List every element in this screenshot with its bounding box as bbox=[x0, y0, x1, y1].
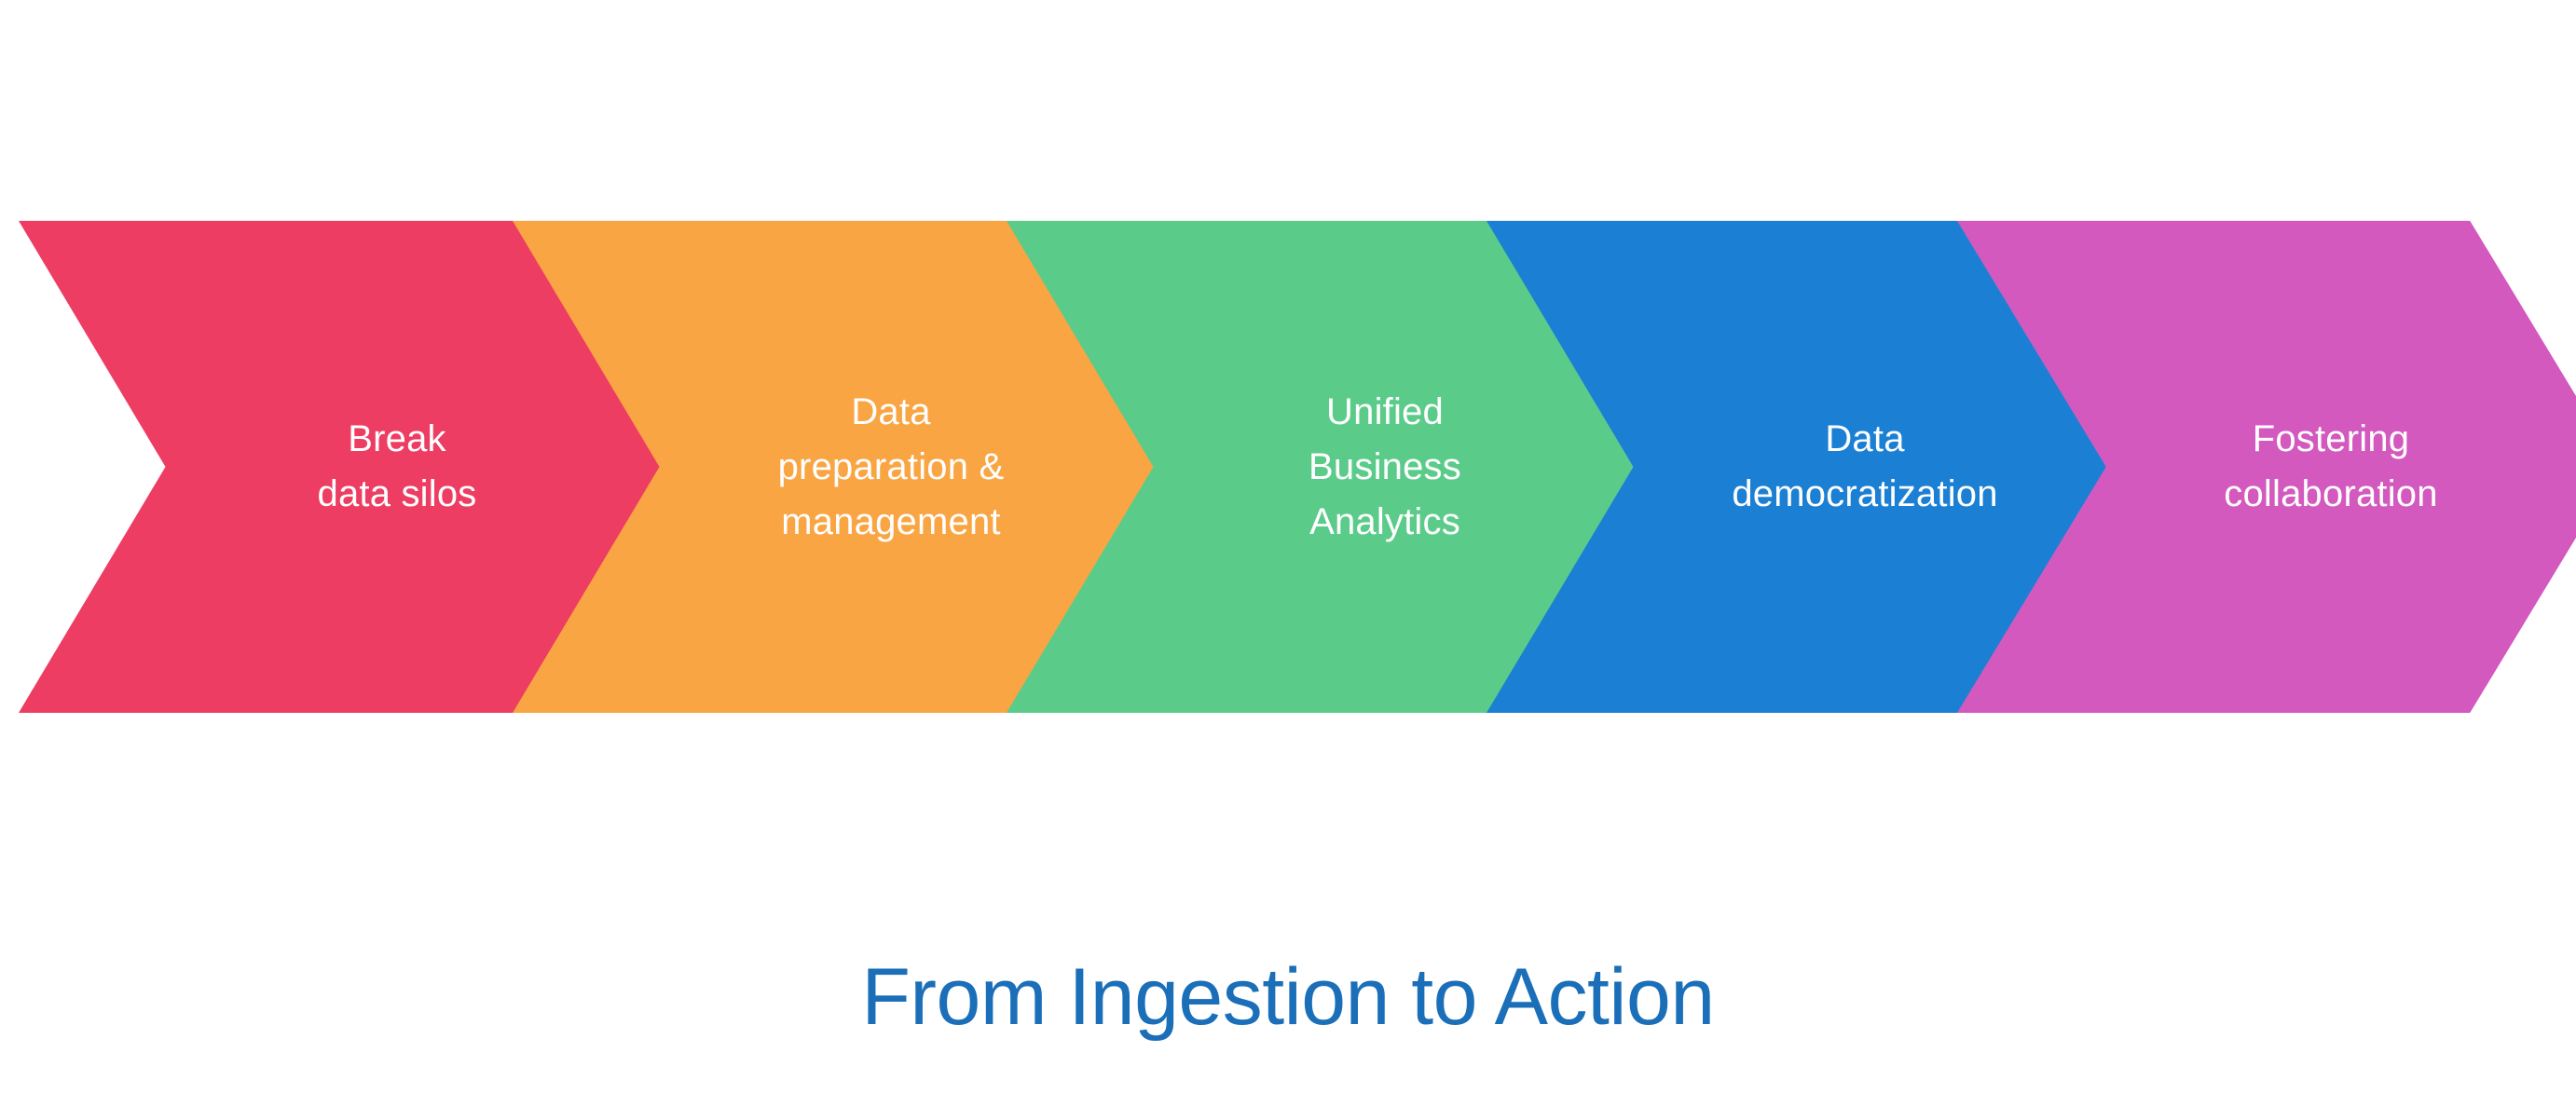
chevron-shape bbox=[1957, 221, 2576, 713]
page-title: From Ingestion to Action bbox=[0, 950, 2576, 1044]
chevron-step-fostering-collaboration[interactable]: Fostering collaboration bbox=[1957, 221, 2576, 713]
diagram-canvas: Break data silos Data preparation & mana… bbox=[0, 0, 2576, 1093]
chevron-process-flow: Break data silos Data preparation & mana… bbox=[0, 221, 2576, 713]
